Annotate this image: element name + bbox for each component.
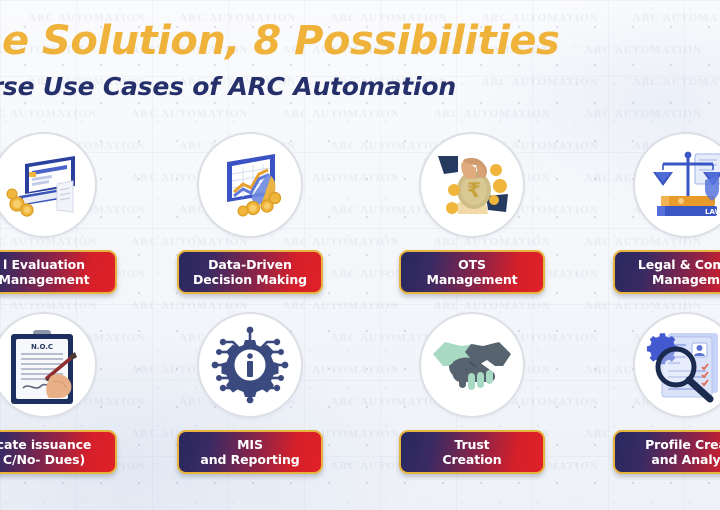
use-case-mis-and-reporting[interactable]: MIS and Reporting	[152, 312, 348, 474]
use-case-profile-creation-analysis[interactable]: Profile Crea and Analy	[588, 312, 720, 474]
use-cases-grid: l Evaluation Management Data-Driven Deci…	[0, 132, 720, 492]
svg-text:N.O.C: N.O.C	[31, 343, 53, 351]
use-cases-row-2: N.O.C cate issuance C/No- Dues)	[0, 312, 720, 492]
monitor-documents-coins-icon	[0, 132, 97, 238]
use-case-trust-creation[interactable]: Trust Creation	[374, 312, 570, 474]
svg-text:LAW: LAW	[705, 208, 720, 216]
page-subtitle: erse Use Cases of ARC Automation	[0, 70, 720, 104]
hand-money-bag-rupee-icon: ₹	[419, 132, 525, 238]
use-case-label-mis-and-reporting[interactable]: MIS and Reporting	[177, 430, 323, 474]
use-case-asset-evaluation-management[interactable]: l Evaluation Management	[0, 132, 142, 294]
use-case-legal-compliance-management[interactable]: LAW Legal & Comp Managem	[588, 132, 720, 294]
use-case-label-data-driven-decision-making[interactable]: Data-Driven Decision Making	[177, 250, 323, 294]
use-case-label-certificate-issuance[interactable]: cate issuance C/No- Dues)	[0, 430, 117, 474]
infographic-canvas: ARC AUTOMATIONARC AUTOMATIONARC AUTOMATI…	[0, 0, 720, 510]
use-case-label-ots-management[interactable]: OTS Management	[399, 250, 545, 294]
use-cases-row-1: l Evaluation Management Data-Driven Deci…	[0, 132, 720, 312]
gear-information-network-icon	[197, 312, 303, 418]
use-case-label-asset-evaluation-management[interactable]: l Evaluation Management	[0, 250, 117, 294]
use-case-certificate-issuance[interactable]: N.O.C cate issuance C/No- Dues)	[0, 312, 142, 474]
monitor-chart-coins-icon	[197, 132, 303, 238]
magnifier-profile-document-icon	[633, 312, 720, 418]
handshake-icon	[419, 312, 525, 418]
header: ne Solution, 8 Possibilities erse Use Ca…	[0, 18, 720, 104]
use-case-label-profile-creation-analysis[interactable]: Profile Crea and Analy	[613, 430, 720, 474]
page-title: ne Solution, 8 Possibilities	[0, 18, 720, 64]
svg-text:₹: ₹	[467, 178, 481, 202]
use-case-label-legal-compliance-management[interactable]: Legal & Comp Managem	[613, 250, 720, 294]
use-case-ots-management[interactable]: ₹ OTS Management	[374, 132, 570, 294]
use-case-data-driven-decision-making[interactable]: Data-Driven Decision Making	[152, 132, 348, 294]
clipboard-noc-signing-icon: N.O.C	[0, 312, 97, 418]
use-case-label-trust-creation[interactable]: Trust Creation	[399, 430, 545, 474]
scales-law-books-icon: LAW	[633, 132, 720, 238]
